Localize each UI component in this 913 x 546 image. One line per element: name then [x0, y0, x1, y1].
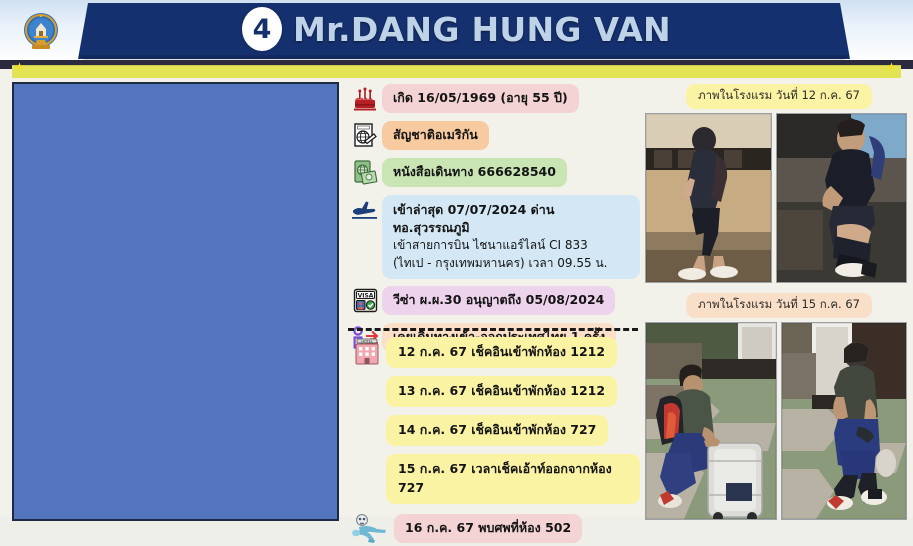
star-marker-left-icon: ★ [14, 62, 25, 73]
photo-column: ภาพในโรงแรม วันที่ 12 ก.ค. 67 [645, 84, 913, 517]
arrival-line-3: (ไทเป - กรุงเทพมหานคร) เวลา 09.55 น. [393, 255, 629, 272]
page-title: Mr.DANG HUNG VAN [293, 10, 671, 49]
yellow-divider-bar [12, 65, 901, 78]
visa-info-bubble: วีซ่า ผ.ผ.30 อนุญาตถึง 05/08/2024 [382, 286, 615, 315]
cctv-photo-outdoor-walking[interactable] [781, 322, 907, 520]
hotel-entry-row: 15 ก.ค. 67 เวลาเช็คเอ้าท์ออกจากห้อง 727 [348, 454, 640, 503]
hotel-entry-spacer [348, 376, 386, 406]
hotel-entry-bubble: 15 ก.ค. 67 เวลาเช็คเอ้าท์ออกจากห้อง 727 [386, 454, 640, 503]
star-marker-right-icon: ★ [886, 62, 897, 73]
cctv-photo-lobby-walking[interactable] [645, 113, 772, 283]
airplane-landing-icon [348, 195, 382, 225]
details-column: เกิด 16/05/1969 (อายุ 55 ปี) สัญชาติอเมร… [348, 84, 640, 517]
birth-info-bubble: เกิด 16/05/1969 (อายุ 55 ปี) [382, 84, 579, 113]
svg-text:VISA: VISA [357, 292, 373, 299]
detail-row-birth: เกิด 16/05/1969 (อายุ 55 ปี) [348, 84, 640, 114]
portrait-placeholder-panel [12, 82, 339, 521]
detail-row-visa: VISA วีซ่า ผ.ผ.30 อนุญาตถึง 05/08/2024 [348, 286, 640, 316]
hotel-timeline: HOTEL 12 ก.ค. 67 เช็คอินเข้าพักห้อง 1212 [348, 337, 640, 546]
arrival-line-2: เข้าสายการบิน ไชนาแอร์ไลน์ CI 833 [393, 237, 629, 254]
case-number-badge: 4 [242, 7, 282, 51]
photo-group-1-caption-wrap: ภาพในโรงแรม วันที่ 12 ก.ค. 67 [645, 84, 913, 109]
photo-group-1-caption: ภาพในโรงแรม วันที่ 12 ก.ค. 67 [686, 84, 872, 109]
header-title-group: 4 Mr.DANG HUNG VAN [0, 0, 913, 58]
passport-number-bubble: หนังสือเดินทาง 666628540 [382, 158, 567, 187]
cctv-photo-lobby-sitting[interactable] [776, 113, 907, 283]
arrival-line-1: เข้าล่าสุด 07/07/2024 ด่าน ทอ.สุวรรณภูมิ [393, 201, 629, 237]
nationality-bubble: สัญชาติอเมริกัน [382, 121, 489, 150]
arrival-info-bubble: เข้าล่าสุด 07/07/2024 ด่าน ทอ.สุวรรณภูมิ… [382, 195, 640, 279]
detail-row-passport: หนังสือเดินทาง 666628540 [348, 158, 640, 188]
photo-group-2-caption-wrap: ภาพในโรงแรม วันที่ 15 ก.ค. 67 [645, 293, 913, 318]
photo-group-2-caption: ภาพในโรงแรม วันที่ 15 ก.ค. 67 [686, 293, 872, 318]
hotel-building-icon: HOTEL [348, 337, 386, 367]
hotel-entry-row: HOTEL 12 ก.ค. 67 เช็คอินเข้าพักห้อง 1212 [348, 337, 640, 368]
visa-badge-icon: VISA [348, 286, 382, 316]
birthday-cake-icon [348, 84, 382, 114]
police-emblem-left-icon [18, 10, 64, 54]
detail-row-arrival: เข้าล่าสุด 07/07/2024 ด่าน ทอ.สุวรรณภูมิ… [348, 195, 640, 279]
case-profile-page: 4 Mr.DANG HUNG VAN [0, 0, 913, 517]
photo-group-1 [645, 113, 913, 283]
section-divider-dashed [348, 328, 638, 331]
hotel-entry-spacer [348, 415, 386, 445]
hotel-entry-spacer [348, 454, 386, 484]
hotel-entry-row: 13 ก.ค. 67 เช็คอินเข้าพักห้อง 1212 [348, 376, 640, 407]
detail-row-nationality: สัญชาติอเมริกัน [348, 121, 640, 151]
page-header: 4 Mr.DANG HUNG VAN [0, 0, 913, 62]
nationality-document-icon [348, 121, 382, 151]
svg-text:HOTEL: HOTEL [361, 339, 372, 343]
deceased-found-bubble: 16 ก.ค. 67 พบศพที่ห้อง 502 [394, 514, 582, 543]
hotel-entry-bubble: 14 ก.ค. 67 เช็คอินเข้าพักห้อง 727 [386, 415, 608, 446]
hotel-entry-bubble: 12 ก.ค. 67 เช็คอินเข้าพักห้อง 1212 [386, 337, 617, 368]
hotel-entry-bubble: 13 ก.ค. 67 เช็คอินเข้าพักห้อง 1212 [386, 376, 617, 407]
photo-group-2 [645, 322, 913, 520]
hotel-entry-row: 14 ก.ค. 67 เช็คอินเข้าพักห้อง 727 [348, 415, 640, 446]
cctv-photo-outdoor-suitcase[interactable] [645, 322, 777, 520]
passport-icon [348, 158, 382, 188]
